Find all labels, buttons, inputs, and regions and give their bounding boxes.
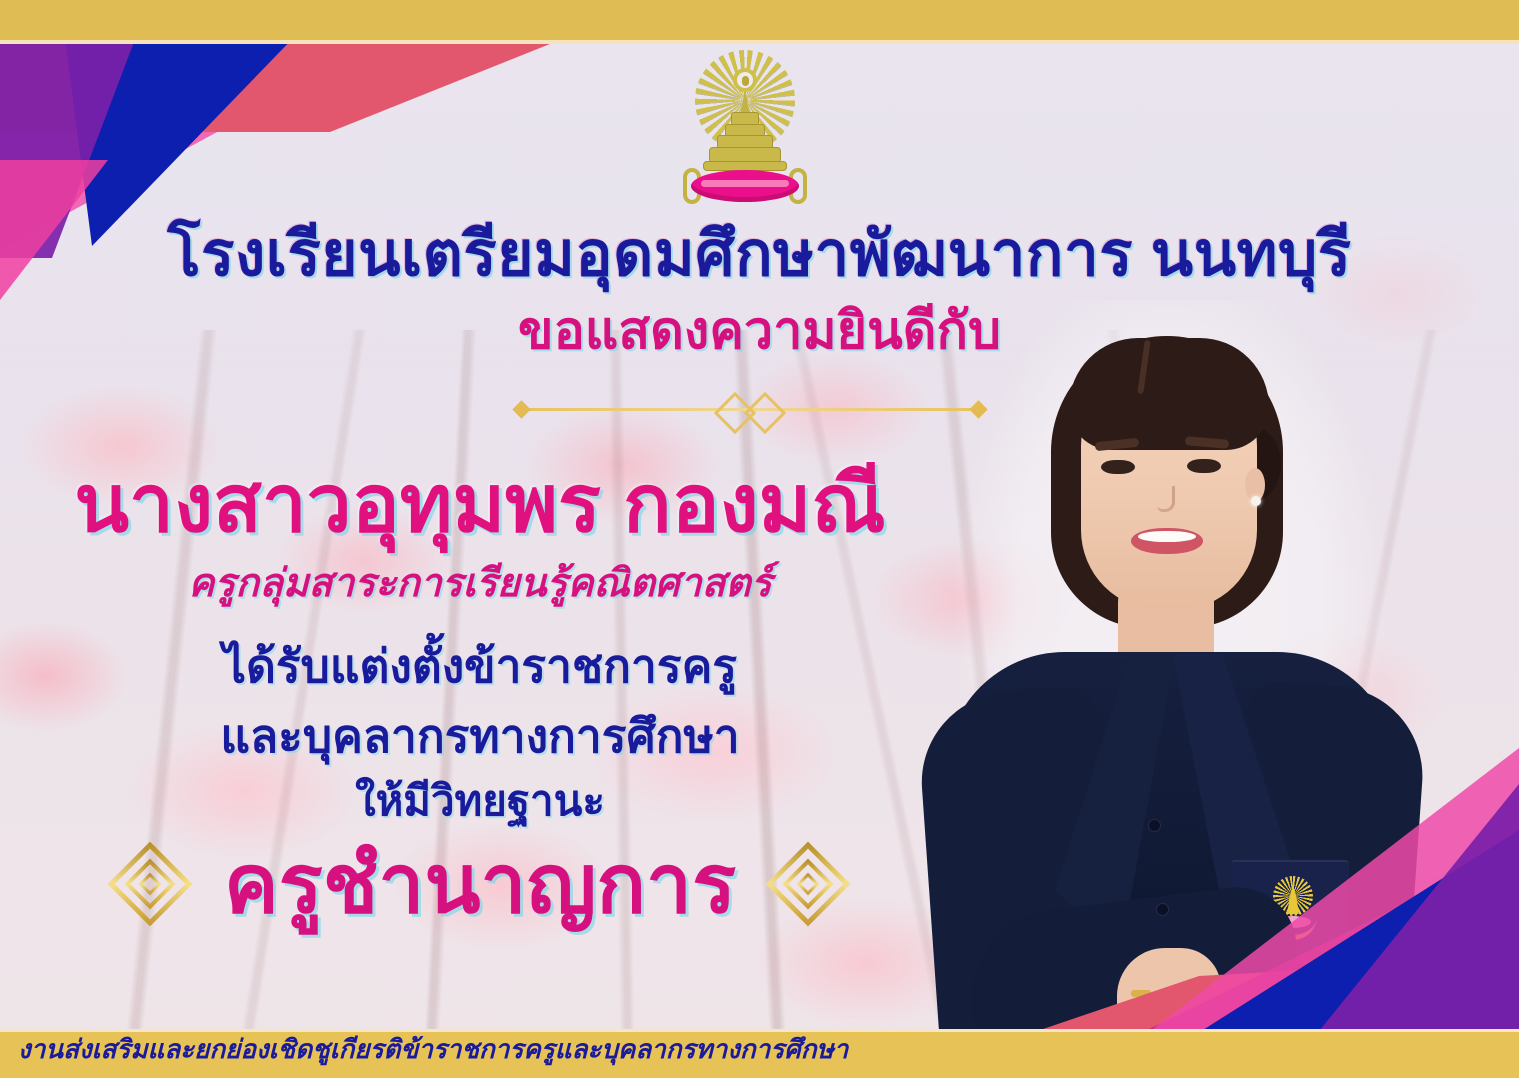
honoree-name: นางสาวอุทุมพร กองมณี: [40, 440, 920, 567]
diamond-ornament-right-icon: [770, 846, 848, 924]
congratulation-line: ขอแสดงความยินดีกับ: [0, 288, 1519, 371]
award-title: ครูชำนาญการ: [224, 844, 736, 926]
divider-diamond-right: [744, 392, 786, 434]
congratulation-poster: โรงเรียนเตรียมอุดมศึกษาพัฒนาการ นนทบุรี …: [0, 0, 1519, 1078]
divider-cap-left: [512, 400, 530, 418]
divider-cap-right: [969, 400, 987, 418]
body-line-1: ได้รับแต่งตั้งข้าราชการครู: [40, 630, 920, 703]
diamond-ornament-left-icon: [112, 846, 190, 924]
award-title-row: ครูชำนาญการ: [40, 830, 920, 940]
footer-caption: งานส่งเสริมและยกย่องเชิดชูเกียรติข้าราชก…: [18, 1029, 848, 1070]
gold-divider-ornament: [515, 396, 985, 424]
poster-text-stage: โรงเรียนเตรียมอุดมศึกษาพัฒนาการ นนทบุรี …: [0, 0, 1519, 1078]
honoree-role: ครูกลุ่มสาระการเรียนรู้คณิตศาสตร์: [40, 552, 920, 614]
body-line-3: ให้มีวิทยฐานะ: [40, 768, 920, 834]
body-line-2: และบุคลากรทางการศึกษา: [40, 700, 920, 773]
